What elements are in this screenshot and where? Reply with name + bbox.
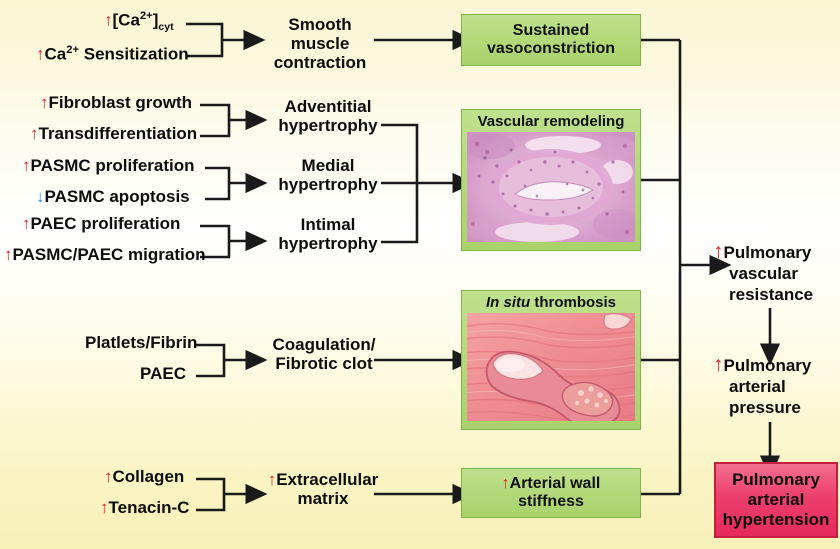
process-line2: hypertrophy — [278, 234, 377, 253]
trigger-paec: PAEC — [140, 364, 186, 383]
trigger-pasmc-proliferation: ↑PASMC proliferation — [22, 156, 195, 175]
outcome-line2: stiffness — [518, 493, 584, 510]
trigger-pasmc-apoptosis: ↓PASMC apoptosis — [36, 187, 190, 206]
trigger-label: Collagen — [113, 467, 185, 486]
trigger-label: Transdifferentiation — [39, 124, 198, 143]
trigger-label: PASMC apoptosis — [45, 187, 190, 206]
process-line2: Fibrotic clot — [275, 354, 372, 373]
trigger-paec-proliferation: ↑PAEC proliferation — [22, 214, 180, 233]
process-line1: Extracellular — [276, 470, 378, 489]
outcome-box-vascular-remodeling[interactable]: Vascular remodeling — [461, 109, 641, 251]
trigger-label: Tenacin-C — [109, 498, 190, 517]
process-line1: Intimal — [301, 215, 356, 234]
up-arrow-icon: ↑ — [713, 353, 724, 376]
terminal-line1: Pulmonary — [732, 470, 820, 489]
process-medial-hypertrophy: Medial hypertrophy — [273, 156, 383, 194]
process-intimal-hypertrophy: Intimal hypertrophy — [273, 215, 383, 253]
up-arrow-icon: ↑ — [22, 156, 31, 175]
result-line2: vascular — [729, 264, 798, 283]
outcome-box-text: ↑Arterial wall stiffness — [502, 475, 601, 511]
outcome-line1: Arterial wall — [510, 475, 601, 492]
trigger-transdifferentiation: ↑Transdifferentiation — [30, 124, 197, 143]
result-line2: arterial — [729, 377, 786, 396]
pathway-diagram: ↑[Ca2+]cyt ↑Ca2+ Sensitization ↑Fibrobla… — [0, 0, 840, 549]
outcome-box-arterial-wall-stiffness[interactable]: ↑Arterial wall stiffness — [461, 468, 641, 518]
outcome-line1: Sustained — [513, 22, 589, 39]
process-adventitial-hypertrophy: Adventitial hypertrophy — [273, 97, 383, 135]
trigger-collagen: ↑Collagen — [104, 467, 184, 486]
up-arrow-icon: ↑ — [713, 240, 724, 263]
trigger-ca-sensitization: ↑Ca2+ Sensitization — [36, 44, 189, 64]
outcome-line2: vasoconstriction — [487, 40, 615, 57]
trigger-label: PASMC/PAEC migration — [13, 245, 206, 264]
terminal-line2: arterial — [748, 490, 805, 509]
process-line2: hypertrophy — [278, 175, 377, 194]
up-arrow-icon: ↑ — [30, 124, 39, 143]
result-line3: pressure — [729, 398, 801, 417]
down-arrow-icon: ↓ — [36, 187, 45, 206]
process-line2: hypertrophy — [278, 116, 377, 135]
outcome-caption: Vascular remodeling — [462, 110, 640, 132]
up-arrow-icon: ↑ — [104, 467, 113, 486]
outcome-caption-italic: In situ — [486, 294, 530, 311]
process-line1: Medial — [302, 156, 355, 175]
result-line1: Pulmonary — [724, 356, 812, 375]
process-line1: Coagulation/ — [273, 335, 376, 354]
process-line1: Adventitial — [285, 97, 372, 116]
result-line3: resistance — [729, 285, 813, 304]
result-line1: Pulmonary — [724, 243, 812, 262]
trigger-fibroblast-growth: ↑Fibroblast growth — [40, 93, 192, 112]
up-arrow-icon: ↑ — [502, 475, 510, 492]
terminal-box-pulmonary-arterial-hypertension[interactable]: Pulmonary arterial hypertension — [714, 462, 838, 538]
process-smooth-muscle-contraction: Smooth muscle contraction — [264, 15, 376, 73]
up-arrow-icon: ↑ — [36, 45, 45, 64]
trigger-ca-cyt: ↑[Ca2+]cyt — [104, 10, 174, 34]
trigger-pasmc-paec-migration: ↑PASMC/PAEC migration — [4, 245, 206, 264]
result-pulmonary-vascular-resistance: ↑Pulmonary vascular resistance — [713, 239, 813, 305]
terminal-box-text: Pulmonary arterial hypertension — [723, 470, 830, 529]
up-arrow-icon: ↑ — [40, 93, 49, 112]
trigger-label: PASMC proliferation — [31, 156, 195, 175]
process-line2: contraction — [274, 53, 367, 72]
process-line2: matrix — [297, 489, 348, 508]
up-arrow-icon: ↑ — [4, 245, 13, 264]
process-coagulation-fibrotic-clot: Coagulation/ Fibrotic clot — [268, 335, 380, 373]
terminal-line3: hypertension — [723, 510, 830, 529]
trigger-label: Fibroblast growth — [49, 93, 193, 112]
trigger-tenacin-c: ↑Tenacin-C — [100, 498, 189, 517]
up-arrow-icon: ↑ — [268, 470, 277, 489]
trigger-label: PAEC proliferation — [31, 214, 181, 233]
outcome-box-sustained-vasoconstriction[interactable]: Sustained vasoconstriction — [461, 14, 641, 66]
histology-thrombus-image — [467, 313, 635, 421]
outcome-box-in-situ-thrombosis[interactable]: In situ thrombosis — [461, 290, 641, 430]
outcome-caption-rest: thrombosis — [530, 294, 616, 311]
outcome-box-text: Sustained vasoconstriction — [487, 22, 615, 58]
process-extracellular-matrix: ↑Extracellular matrix — [262, 470, 384, 508]
trigger-platelets-fibrin: Platlets/Fibrin — [85, 333, 197, 352]
outcome-caption: In situ thrombosis — [462, 291, 640, 313]
result-pulmonary-arterial-pressure: ↑Pulmonary arterial pressure — [713, 352, 811, 418]
process-line1: Smooth muscle — [288, 15, 351, 53]
up-arrow-icon: ↑ — [100, 498, 109, 517]
histology-vessel-cross-section-image — [467, 132, 635, 242]
up-arrow-icon: ↑ — [22, 214, 31, 233]
up-arrow-icon: ↑ — [104, 11, 113, 30]
